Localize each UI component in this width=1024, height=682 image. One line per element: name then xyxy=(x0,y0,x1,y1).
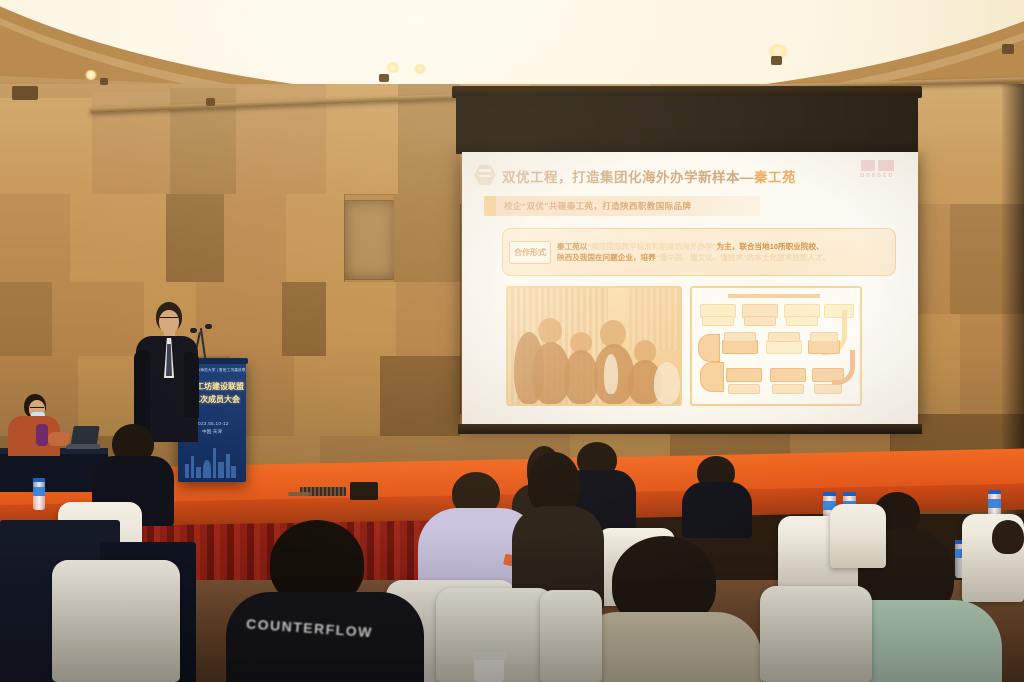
ceiling-spot-light xyxy=(84,70,98,80)
photo-person xyxy=(564,350,598,404)
unesco-mark-left-icon xyxy=(861,160,875,171)
chair xyxy=(830,504,886,568)
ceiling-sparkle xyxy=(340,16,342,18)
slide-title-highlight: 秦工苑 xyxy=(754,170,796,185)
slide-body-line-1: 秦工苑以“顺应国际教学标准和制度的海外办学”为主，联合当地10所职业院校、 xyxy=(557,241,830,252)
audience-body xyxy=(682,482,752,538)
projection-screen: 双优工程，打造集团化海外办学新样本—秦工苑 unesco 校企“双优”共建秦工苑… xyxy=(462,152,918,424)
speaker-arm-right xyxy=(184,352,199,418)
ceiling-sparkle xyxy=(205,3,207,5)
chair xyxy=(52,560,180,682)
bottle-cap xyxy=(33,478,45,482)
diagram-arc xyxy=(700,362,724,392)
slide-section-chip: 合作形式 xyxy=(509,241,551,264)
subtitle-accent-tab xyxy=(484,196,496,216)
diagram-node xyxy=(814,384,842,394)
body-1b: “顺应国际教学标准和制度的海外办学” xyxy=(587,242,716,251)
diagram-node xyxy=(724,332,756,342)
slide-body-line-2: 陕西及我国在问题企业，培养“懂中国、懂文化、懂技术”的本土化技术技能人才。 xyxy=(557,252,830,263)
diagram-node xyxy=(766,340,802,354)
diagram-node xyxy=(726,368,762,382)
audience-head xyxy=(528,452,580,514)
staff-glasses-icon xyxy=(30,407,44,411)
spot-housing xyxy=(771,56,782,65)
diagram-title-bar xyxy=(728,294,820,298)
paper-cup-lid xyxy=(472,652,506,660)
slide-content-box: 合作形式 秦工苑以“顺应国际教学标准和制度的海外办学”为主，联合当地10所职业院… xyxy=(502,228,896,276)
ceiling-spot-light xyxy=(385,62,401,73)
slide-subtitle-bar: 校企“双优”共建秦工苑，打造陕西职教国际品牌 xyxy=(484,196,760,216)
slide-bullet-icon xyxy=(474,164,496,186)
water-bottle xyxy=(33,478,45,510)
body-1c: 为主，联合当地10所职业院校、 xyxy=(716,242,823,251)
diagram-node xyxy=(722,340,758,354)
ceiling-speaker xyxy=(12,86,38,100)
staff-arm xyxy=(48,432,70,446)
unesco-logo: unesco xyxy=(846,160,908,179)
projector-screen-bottom-bar xyxy=(458,424,922,434)
diagram-node xyxy=(744,316,776,326)
slide-photo-group xyxy=(506,286,682,406)
laptop-keyboard xyxy=(66,444,100,449)
body-2a: 陕西及我国在问题 xyxy=(557,253,618,262)
microphone-head xyxy=(205,324,212,329)
projector-screen-black-border xyxy=(456,96,918,154)
body-2d: 的本土化技术技能人才。 xyxy=(747,253,831,262)
ceiling-sparkle xyxy=(240,14,242,16)
bottle-cap xyxy=(823,492,836,496)
slide-subtitle: 校企“双优”共建秦工苑，打造陕西职教国际品牌 xyxy=(496,200,691,212)
photo-person-shirt xyxy=(604,354,618,394)
slide-title: 双优工程，打造集团化海外办学新样本—秦工苑 xyxy=(502,166,796,186)
microphone-head xyxy=(190,328,197,333)
staff-inner-top xyxy=(36,424,48,446)
diagram-node xyxy=(728,384,760,394)
diagram-node xyxy=(810,332,838,342)
diagram-node xyxy=(786,316,818,326)
slide-diagram xyxy=(690,286,862,406)
chair xyxy=(540,590,602,682)
spot-housing xyxy=(379,74,389,82)
diagram-node xyxy=(772,384,804,394)
body-1a: 秦工苑以 xyxy=(557,242,587,251)
slide-body-text: 秦工苑以“顺应国际教学标准和制度的海外办学”为主，联合当地10所职业院校、 陕西… xyxy=(557,241,830,263)
audience-head xyxy=(992,520,1024,554)
diagram-node xyxy=(770,368,806,382)
bottle-label xyxy=(988,499,1001,508)
photo-person xyxy=(654,362,680,404)
ceiling-sparkle xyxy=(300,6,302,8)
body-2c: “懂中国、懂文化、懂技术” xyxy=(656,253,747,262)
bottle-cap xyxy=(988,490,1001,494)
diagram-arc xyxy=(698,334,720,362)
bottle-cap xyxy=(843,492,856,496)
spot-housing xyxy=(206,98,215,106)
body-2b: 企业，培养 xyxy=(618,253,656,262)
spot-housing xyxy=(100,78,108,85)
chair xyxy=(760,586,872,682)
ceiling-sparkle xyxy=(150,10,152,12)
podium-skyline-graphic xyxy=(183,436,237,478)
conference-hall-photo: 双优工程，打造集团化海外办学新样本—秦工苑 unesco 校企“双优”共建秦工苑… xyxy=(0,0,1024,682)
speaker-glasses-icon xyxy=(160,317,178,322)
diagram-node xyxy=(768,332,800,342)
photo-person-head xyxy=(538,318,562,344)
slide-title-main: 双优工程，打造集团化海外办学新样本— xyxy=(502,170,754,185)
stage-cable xyxy=(288,492,310,496)
unesco-wordmark: unesco xyxy=(846,172,908,179)
photo-curtain xyxy=(626,288,680,350)
diagram-node xyxy=(702,316,734,326)
diagram-arc xyxy=(832,350,855,385)
stage-monitor-box xyxy=(350,482,378,500)
ceiling-sparkle xyxy=(70,4,72,6)
ceiling-spot-light xyxy=(413,64,427,74)
unesco-mark-right-icon xyxy=(878,160,894,171)
bottle-label xyxy=(33,487,45,496)
spot-housing xyxy=(1002,44,1014,54)
